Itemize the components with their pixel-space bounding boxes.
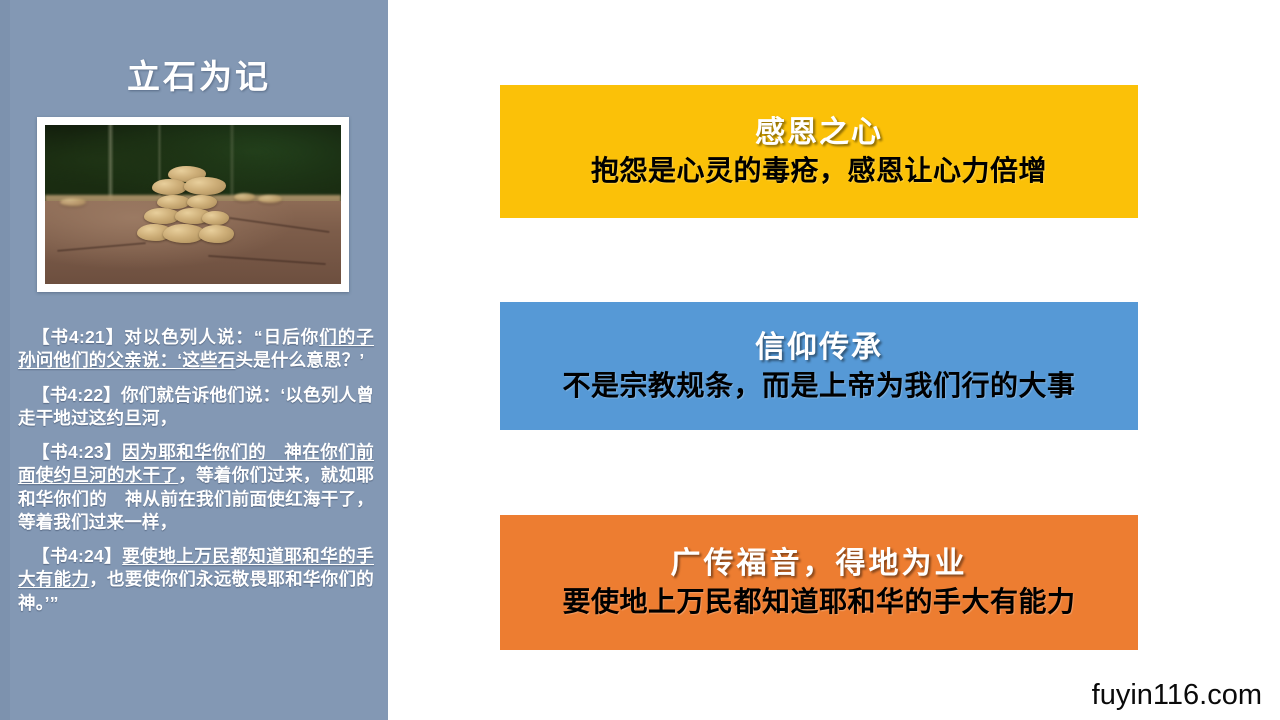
banner-title: 感恩之心	[755, 115, 883, 150]
verse-text-plain: 头是什么意思？’	[235, 350, 364, 370]
cairn-stone	[199, 225, 235, 242]
banner-subtitle: 不是宗教规条，而是上帝为我们行的大事	[562, 369, 1075, 403]
stone-cairn-photo	[45, 125, 341, 284]
verse-text-underlined: 要使地上万民都知道耶和	[122, 546, 320, 566]
banner-spread-gospel: 广传福音，得地为业 要使地上万民都知道耶和华的手大有能力	[500, 515, 1138, 650]
sidebar-panel: 立石为记	[0, 0, 388, 720]
cairn-stone	[184, 177, 225, 194]
photo-frame	[37, 117, 349, 292]
scripture-verse: 【书4:24】要使地上万民都知道耶和华的手大有能力，也要使你们永远敬畏耶和华你们…	[18, 545, 374, 615]
page-title: 立石为记	[10, 58, 388, 96]
banner-faith-legacy: 信仰传承 不是宗教规条，而是上帝为我们行的大事	[500, 302, 1138, 430]
scripture-block: 【书4:21】对以色列人说：“日后你们的子孙问他们的父亲说：‘这些石头是什么意思…	[18, 326, 374, 615]
cairn-stone	[202, 211, 229, 225]
banner-title: 信仰传承	[755, 330, 883, 365]
cairn-stone	[152, 179, 188, 195]
scripture-verse: 【书4:21】对以色列人说：“日后你们的子孙问他们的父亲说：‘这些石头是什么意思…	[18, 326, 374, 373]
banner-subtitle: 要使地上万民都知道耶和华的手大有能力	[562, 585, 1075, 619]
slide-canvas: 立石为记	[0, 0, 1280, 720]
banner-subtitle: 抱怨是心灵的毒疮，感恩让心力倍增	[591, 154, 1047, 188]
distant-stone	[258, 195, 282, 203]
verse-ref: 【书4:23】	[32, 442, 122, 462]
site-watermark: fuyin116.com	[1092, 679, 1262, 712]
verse-text-underlined: 因为耶和华你们的 神在	[122, 442, 320, 462]
scripture-verse: 【书4:22】你们就告诉他们说：‘以色列人曾走干地过这约旦河，	[18, 384, 374, 431]
verse-ref: 【书4:21】	[32, 327, 124, 347]
verse-ref: 【书4:22】	[32, 385, 121, 405]
sidebar-left-edge-strip	[0, 0, 10, 720]
verse-ref: 【书4:24】	[32, 546, 122, 566]
verse-text-plain: 对以色列人说：“日后你	[124, 327, 319, 347]
banner-gratitude: 感恩之心 抱怨是心灵的毒疮，感恩让心力倍增	[500, 85, 1138, 218]
scripture-verse: 【书4:23】因为耶和华你们的 神在你们前面使约旦河的水干了，等着你们过来，就如…	[18, 441, 374, 534]
banner-title: 广传福音，得地为业	[671, 546, 968, 581]
